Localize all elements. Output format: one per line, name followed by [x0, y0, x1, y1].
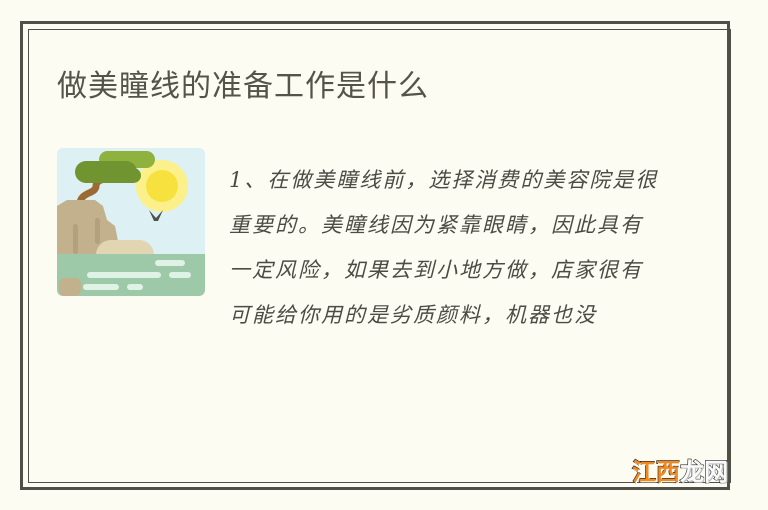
- watermark-primary: 江西: [632, 458, 680, 486]
- landscape-illustration-icon: [57, 148, 205, 296]
- page-root: 做美瞳线的准备工作是什么: [0, 0, 768, 510]
- wave-icon: [83, 284, 119, 290]
- watermark-secondary: 龙网: [680, 458, 728, 486]
- page-title: 做美瞳线的准备工作是什么: [57, 67, 429, 107]
- article-paragraph: 1、在做美瞳线前，选择消费的美容院是很重要的。美瞳线因为紧靠眼睛，因此具有一定风…: [229, 158, 659, 338]
- article-thumbnail[interactable]: [57, 148, 205, 296]
- small-rock-icon: [59, 278, 81, 296]
- wave-icon: [155, 260, 185, 266]
- wave-icon: [87, 272, 161, 278]
- cliff-crack-icon: [73, 224, 78, 254]
- watermark: 江西龙网: [632, 458, 728, 486]
- sun-core-icon: [146, 170, 178, 202]
- wave-icon: [127, 284, 143, 290]
- wave-icon: [169, 272, 191, 278]
- foliage-right-icon: [111, 168, 141, 183]
- cliff-crack-2-icon: [95, 218, 100, 244]
